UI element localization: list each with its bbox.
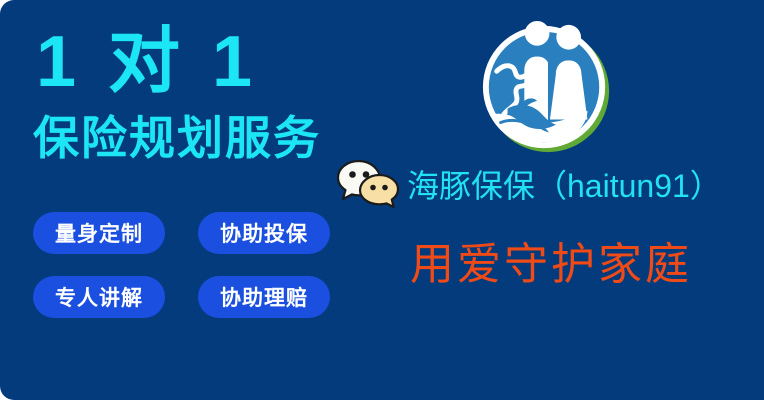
globe-family-dolphin-logo: [477, 20, 615, 158]
badge-custom-tailored[interactable]: 量身定制: [33, 212, 165, 254]
badge-assist-claim[interactable]: 协助理赔: [198, 276, 330, 318]
wechat-contact-row[interactable]: 海豚保保（haitun91）: [337, 158, 722, 210]
badge-expert-explain[interactable]: 专人讲解: [33, 276, 165, 318]
wechat-id-text: 海豚保保（haitun91）: [407, 161, 722, 207]
page-subtitle: 保险规划服务: [33, 112, 321, 165]
slogan-text: 用爱守护家庭: [410, 240, 692, 291]
feature-badge-list: 量身定制 协助投保 专人讲解 协助理赔: [33, 212, 333, 318]
wechat-icon: [337, 159, 401, 209]
promo-banner: 1 对 1 保险规划服务 量身定制 协助投保 专人讲解 协助理赔: [0, 0, 764, 400]
page-title: 1 对 1: [36, 26, 258, 98]
badge-assist-apply[interactable]: 协助投保: [198, 212, 330, 254]
